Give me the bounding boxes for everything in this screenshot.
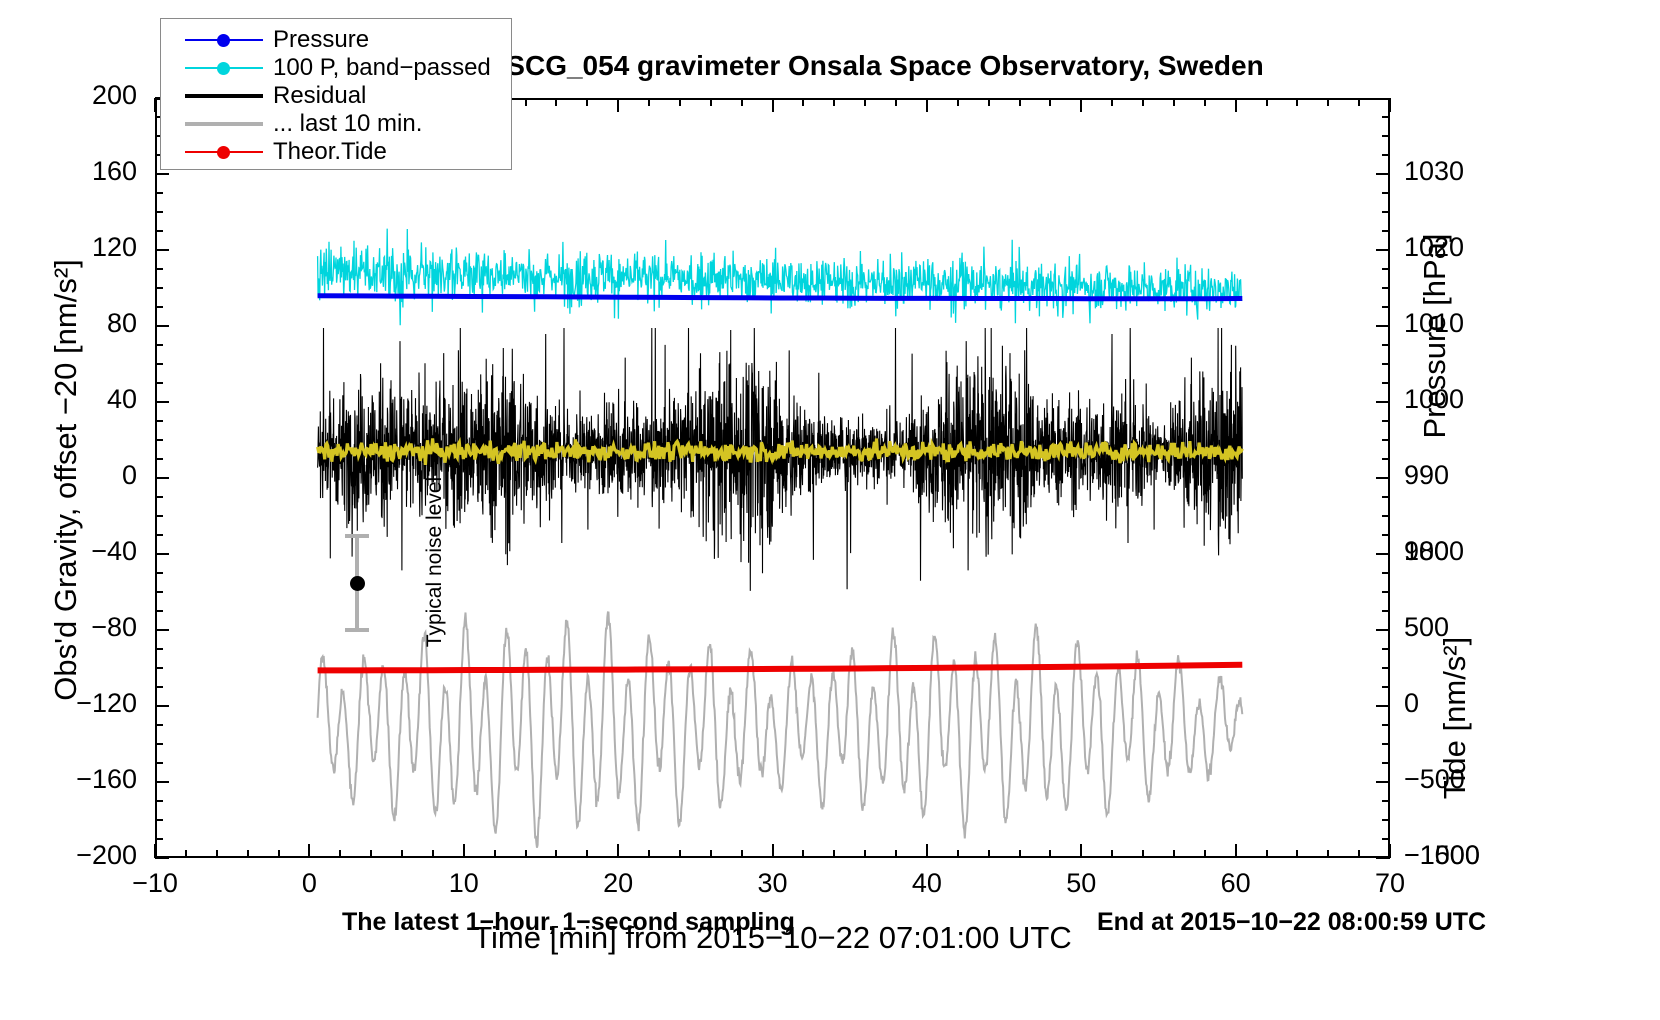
y-tick-minor — [155, 762, 163, 764]
data-series-layer — [157, 100, 1392, 860]
y-tick-major — [155, 781, 169, 783]
pressure-tick-label: 990 — [1404, 460, 1514, 491]
x-tick-major — [617, 844, 619, 858]
y-tick-minor — [155, 344, 163, 346]
legend-marker-dot-icon — [217, 34, 230, 47]
y-tick-label: 0 — [27, 460, 137, 491]
legend-item-label: Residual — [273, 82, 366, 110]
tide-tick-major — [1376, 857, 1390, 859]
x-tick-minor-top — [864, 98, 866, 106]
x-tick-minor-top — [1142, 98, 1144, 106]
y-tick-minor — [155, 534, 163, 536]
footer-left-note: The latest 1−hour, 1−second sampling — [342, 908, 795, 937]
pressure-tick-minor — [1382, 211, 1390, 213]
tide-tick-minor — [1382, 648, 1390, 650]
x-tick-minor-top — [895, 98, 897, 106]
x-tick-minor — [895, 850, 897, 858]
x-tick-minor-top — [1019, 98, 1021, 106]
series-path-residual — [318, 328, 1243, 591]
x-tick-minor — [957, 850, 959, 858]
x-tick-minor-top — [802, 98, 804, 106]
x-tick-minor-top — [1358, 98, 1360, 106]
pressure-tick-minor — [1382, 154, 1390, 156]
x-tick-label: 10 — [419, 868, 509, 899]
legend-swatch-icon — [185, 140, 263, 164]
x-tick-minor-top — [710, 98, 712, 106]
tide-tick-minor — [1382, 591, 1390, 593]
tide-tick-label: 1000 — [1404, 536, 1514, 567]
x-tick-minor-top — [741, 98, 743, 106]
y-tick-major — [155, 401, 169, 403]
y-tick-label: 200 — [27, 80, 137, 111]
y-tick-minor — [155, 420, 163, 422]
x-tick-major-top — [1080, 98, 1082, 112]
x-tick-minor — [1204, 850, 1206, 858]
x-tick-minor — [1173, 850, 1175, 858]
y-tick-minor — [155, 591, 163, 593]
legend-item-label: 100 P, band−passed — [273, 54, 491, 82]
pressure-tick-minor — [1382, 116, 1390, 118]
x-tick-minor — [864, 850, 866, 858]
y-tick-label: −160 — [27, 764, 137, 795]
y-tick-label: 160 — [27, 156, 137, 187]
pressure-tick-minor — [1382, 439, 1390, 441]
tide-tick-minor — [1382, 819, 1390, 821]
x-tick-label: 40 — [882, 868, 972, 899]
y-tick-minor — [155, 724, 163, 726]
y-tick-minor — [155, 306, 163, 308]
x-tick-major — [1389, 844, 1391, 858]
y-tick-minor — [155, 610, 163, 612]
pressure-tick-minor — [1382, 135, 1390, 137]
pressure-tick-major — [1376, 401, 1390, 403]
tide-tick-minor — [1382, 686, 1390, 688]
x-tick-minor — [710, 850, 712, 858]
pressure-tick-minor — [1382, 363, 1390, 365]
tide-tick-label: −500 — [1404, 764, 1514, 795]
y-tick-minor — [155, 648, 163, 650]
y-tick-minor — [155, 800, 163, 802]
x-tick-major — [1235, 844, 1237, 858]
legend-marker-dot-icon — [217, 62, 230, 75]
x-tick-minor-top — [525, 98, 527, 106]
x-tick-minor — [370, 850, 372, 858]
pressure-tick-minor — [1382, 534, 1390, 536]
tide-tick-label: −1500 — [1404, 840, 1514, 871]
y-tick-major — [155, 629, 169, 631]
x-tick-major — [308, 844, 310, 858]
x-tick-major — [772, 844, 774, 858]
x-tick-minor — [555, 850, 557, 858]
noise-level-dot — [350, 576, 365, 591]
y-tick-minor — [155, 743, 163, 745]
tide-tick-minor — [1382, 610, 1390, 612]
y-tick-label: −200 — [27, 840, 137, 871]
tide-tick-minor — [1382, 743, 1390, 745]
x-tick-minor — [1049, 850, 1051, 858]
x-tick-minor — [1266, 850, 1268, 858]
x-tick-minor-top — [957, 98, 959, 106]
x-tick-label: 30 — [728, 868, 818, 899]
y-tick-major — [155, 553, 169, 555]
x-tick-label: 70 — [1345, 868, 1435, 899]
x-tick-minor — [278, 850, 280, 858]
pressure-tick-label: 1000 — [1404, 384, 1514, 415]
x-tick-minor-top — [1204, 98, 1206, 106]
y-tick-minor — [155, 686, 163, 688]
x-tick-minor — [988, 850, 990, 858]
tide-tick-minor — [1382, 800, 1390, 802]
tide-tick-label: 500 — [1404, 612, 1514, 643]
y-tick-major — [155, 857, 169, 859]
pressure-tick-minor — [1382, 458, 1390, 460]
tide-tick-minor — [1382, 762, 1390, 764]
x-tick-minor-top — [1296, 98, 1298, 106]
pressure-tick-minor — [1382, 420, 1390, 422]
pressure-tick-label: 1020 — [1404, 232, 1514, 263]
y-tick-minor — [155, 230, 163, 232]
tide-tick-minor — [1382, 572, 1390, 574]
y-tick-minor — [155, 496, 163, 498]
x-tick-label: −10 — [110, 868, 200, 899]
legend-item-label: ... last 10 min. — [273, 110, 422, 138]
tide-tick-major — [1376, 553, 1390, 555]
legend-item-1[interactable]: 100 P, band−passed — [161, 54, 511, 82]
legend-item-label: Theor.Tide — [273, 138, 387, 166]
pressure-tick-major — [1376, 173, 1390, 175]
x-tick-minor-top — [1049, 98, 1051, 106]
series-path-theoretical-tide — [318, 665, 1243, 671]
x-tick-label: 20 — [573, 868, 663, 899]
x-tick-minor — [648, 850, 650, 858]
y-tick-minor — [155, 572, 163, 574]
y-tick-major — [155, 173, 169, 175]
legend-item-3[interactable]: ... last 10 min. — [161, 110, 511, 138]
y-tick-label: −40 — [27, 536, 137, 567]
x-tick-major-top — [1389, 98, 1391, 112]
x-tick-minor — [679, 850, 681, 858]
x-tick-minor — [494, 850, 496, 858]
x-tick-minor-top — [648, 98, 650, 106]
x-tick-minor-top — [1111, 98, 1113, 106]
x-tick-major — [154, 844, 156, 858]
y-tick-minor — [155, 363, 163, 365]
legend-item-0[interactable]: Pressure — [161, 26, 511, 54]
x-tick-minor — [833, 850, 835, 858]
pressure-tick-minor — [1382, 382, 1390, 384]
x-tick-minor-top — [586, 98, 588, 106]
x-tick-minor — [1019, 850, 1021, 858]
y-tick-minor — [155, 382, 163, 384]
y-tick-minor — [155, 268, 163, 270]
x-tick-minor-top — [1327, 98, 1329, 106]
x-tick-label: 0 — [264, 868, 354, 899]
legend-swatch-icon — [185, 112, 263, 136]
series-path-last-10-min — [318, 612, 1243, 847]
x-tick-major-top — [1235, 98, 1237, 112]
x-tick-minor-top — [833, 98, 835, 106]
x-tick-label: 50 — [1036, 868, 1126, 899]
x-tick-minor — [802, 850, 804, 858]
legend-item-2[interactable]: Residual — [161, 82, 511, 110]
x-tick-major — [463, 844, 465, 858]
y-tick-minor — [155, 838, 163, 840]
pressure-tick-minor — [1382, 192, 1390, 194]
x-tick-minor — [1358, 850, 1360, 858]
legend-swatch-icon — [185, 84, 263, 108]
x-tick-minor — [525, 850, 527, 858]
pressure-tick-major — [1376, 325, 1390, 327]
y-tick-major — [155, 477, 169, 479]
tide-tick-major — [1376, 781, 1390, 783]
x-tick-minor — [1296, 850, 1298, 858]
noise-level-label: Typical noise level — [423, 442, 447, 682]
series-path-band-passed-pressure — [318, 229, 1243, 326]
y-tick-major — [155, 705, 169, 707]
legend-item-label: Pressure — [273, 26, 369, 54]
pressure-tick-label: 1030 — [1404, 156, 1514, 187]
x-tick-minor — [432, 850, 434, 858]
y-tick-label: 80 — [27, 308, 137, 339]
y-tick-minor — [155, 192, 163, 194]
x-tick-major — [926, 844, 928, 858]
y-tick-minor — [155, 211, 163, 213]
tide-tick-minor — [1382, 838, 1390, 840]
legend: Pressure100 P, band−passedResidual... la… — [160, 18, 512, 170]
tide-tick-label: 0 — [1404, 688, 1514, 719]
legend-swatch-icon — [185, 56, 263, 80]
gravimeter-chart-figure: SCG_054 gravimeter Onsala Space Observat… — [0, 0, 1660, 1020]
x-tick-minor — [741, 850, 743, 858]
pressure-tick-minor — [1382, 230, 1390, 232]
y-tick-minor — [155, 439, 163, 441]
pressure-tick-major — [1376, 477, 1390, 479]
x-tick-minor — [401, 850, 403, 858]
tide-tick-minor — [1382, 724, 1390, 726]
footer-right-note: End at 2015−10−22 08:00:59 UTC — [1097, 908, 1486, 937]
page-title: SCG_054 gravimeter Onsala Space Observat… — [380, 50, 1390, 82]
x-tick-minor-top — [1173, 98, 1175, 106]
x-tick-minor — [185, 850, 187, 858]
x-tick-minor-top — [1266, 98, 1268, 106]
y-tick-label: 120 — [27, 232, 137, 263]
x-tick-minor — [586, 850, 588, 858]
plot-area: Typical noise level The latest 1−hour, 1… — [155, 98, 1390, 858]
y-tick-minor — [155, 667, 163, 669]
y-tick-label: 40 — [27, 384, 137, 415]
pressure-tick-major — [1376, 249, 1390, 251]
y-tick-major — [155, 249, 169, 251]
pressure-tick-minor — [1382, 515, 1390, 517]
y-tick-minor — [155, 819, 163, 821]
legend-swatch-icon — [185, 28, 263, 52]
legend-marker-dot-icon — [217, 146, 230, 159]
x-tick-minor-top — [679, 98, 681, 106]
tide-tick-minor — [1382, 667, 1390, 669]
x-tick-minor — [1327, 850, 1329, 858]
x-tick-minor-top — [988, 98, 990, 106]
y-tick-label: −120 — [27, 688, 137, 719]
tide-tick-major — [1376, 705, 1390, 707]
y-tick-minor — [155, 515, 163, 517]
pressure-tick-minor — [1382, 287, 1390, 289]
x-tick-label: 60 — [1191, 868, 1281, 899]
x-tick-minor — [339, 850, 341, 858]
tide-tick-major — [1376, 629, 1390, 631]
pressure-tick-minor — [1382, 496, 1390, 498]
pressure-tick-minor — [1382, 344, 1390, 346]
x-tick-minor-top — [555, 98, 557, 106]
x-tick-minor — [247, 850, 249, 858]
pressure-tick-label: 1010 — [1404, 308, 1514, 339]
y-tick-minor — [155, 287, 163, 289]
x-tick-major-top — [617, 98, 619, 112]
x-tick-major-top — [926, 98, 928, 112]
x-tick-minor — [1111, 850, 1113, 858]
y-tick-minor — [155, 458, 163, 460]
x-tick-minor — [216, 850, 218, 858]
x-tick-minor — [1142, 850, 1144, 858]
pressure-tick-minor — [1382, 306, 1390, 308]
pressure-tick-minor — [1382, 268, 1390, 270]
x-tick-major-top — [154, 98, 156, 112]
y-tick-major — [155, 325, 169, 327]
x-tick-major — [1080, 844, 1082, 858]
legend-item-4[interactable]: Theor.Tide — [161, 138, 511, 166]
y-tick-label: −80 — [27, 612, 137, 643]
x-tick-major-top — [772, 98, 774, 112]
